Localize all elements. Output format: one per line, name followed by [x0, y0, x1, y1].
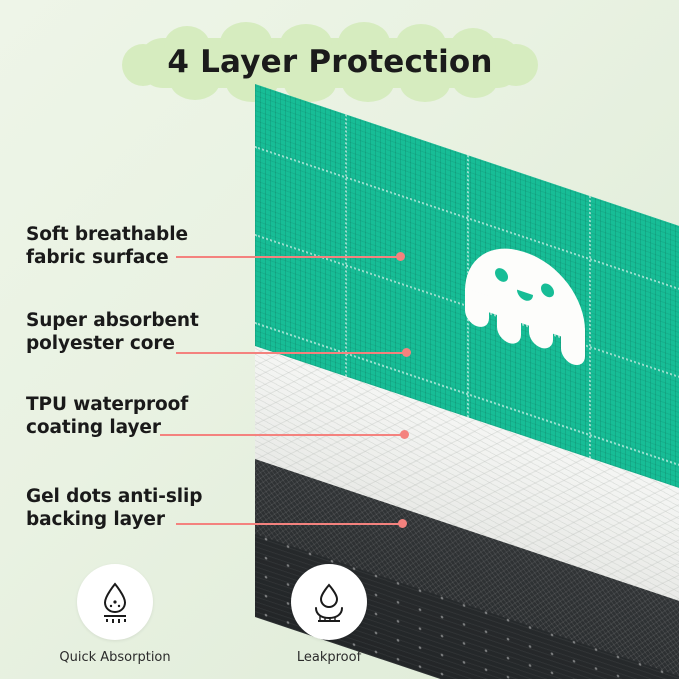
water-drop-shield-icon: [304, 577, 354, 627]
callout-fabric-label: Soft breathable fabric surface: [26, 224, 188, 269]
leader-line-core: [176, 352, 406, 354]
leakproof-badge: [291, 564, 367, 640]
quick-absorption-badge: [77, 564, 153, 640]
leader-line-backing: [176, 523, 402, 525]
callout-core-label: Super absorbent polyester core: [26, 310, 199, 355]
callout-backing-label: Gel dots anti-slip backing layer: [26, 486, 202, 531]
callout-tpu: TPU waterproof coating layer: [26, 394, 188, 439]
leader-dot-backing: [398, 519, 407, 528]
callout-fabric: Soft breathable fabric surface: [26, 224, 188, 269]
leader-dot-fabric: [396, 252, 405, 261]
product-infographic: 4 Layer Protection: [0, 0, 679, 679]
title-banner: 4 Layer Protection: [120, 22, 540, 102]
callout-core: Super absorbent polyester core: [26, 310, 199, 355]
callout-tpu-label: TPU waterproof coating layer: [26, 394, 188, 439]
leader-dot-core: [402, 348, 411, 357]
feature-quick-absorption-label: Quick Absorption: [59, 650, 170, 665]
quilt-stitch: [589, 196, 591, 459]
water-drop-absorption-icon: [90, 577, 140, 627]
feature-leakproof: Leakproof: [254, 564, 404, 665]
quilt-stitch: [345, 114, 347, 377]
leader-line-fabric: [176, 256, 400, 258]
feature-quick-absorption: Quick Absorption: [40, 564, 190, 665]
page-title: 4 Layer Protection: [120, 22, 540, 102]
leader-dot-tpu: [400, 430, 409, 439]
callout-backing: Gel dots anti-slip backing layer: [26, 486, 202, 531]
leader-line-tpu: [160, 434, 404, 436]
feature-leakproof-label: Leakproof: [297, 650, 361, 665]
feature-badges: Quick Absorption Leakproof: [40, 564, 404, 665]
